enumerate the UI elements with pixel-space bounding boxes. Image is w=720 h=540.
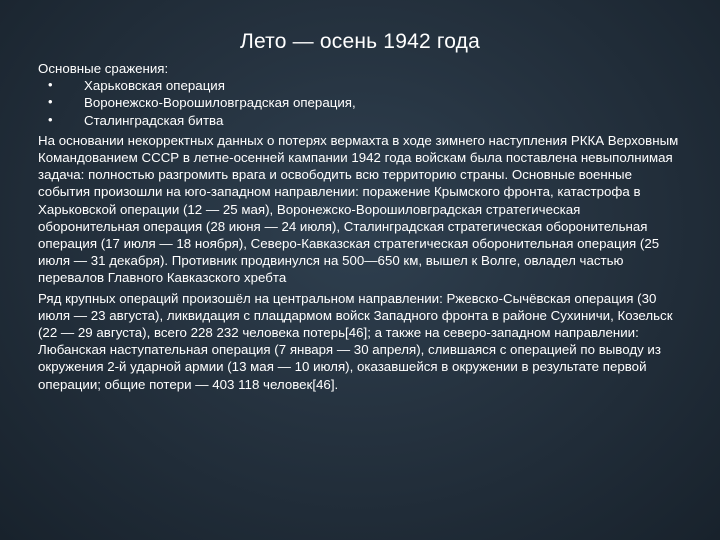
list-item: Харьковская операция <box>38 77 684 94</box>
paragraph-1: На основании некорректных данных о потер… <box>38 132 684 287</box>
slide: Лето — осень 1942 года Основные сражения… <box>0 0 720 540</box>
list-item: Сталинградская битва <box>38 112 684 129</box>
paragraph-2: Ряд крупных операций произошёл на центра… <box>38 290 684 393</box>
slide-body: Основные сражения: Харьковская операция … <box>38 60 684 394</box>
list-item: Воронежско-Ворошиловградская операция, <box>38 94 684 111</box>
battle-list: Харьковская операция Воронежско-Ворошило… <box>38 77 684 129</box>
lead-text: Основные сражения: <box>38 60 684 77</box>
page-title: Лето — осень 1942 года <box>0 30 720 54</box>
